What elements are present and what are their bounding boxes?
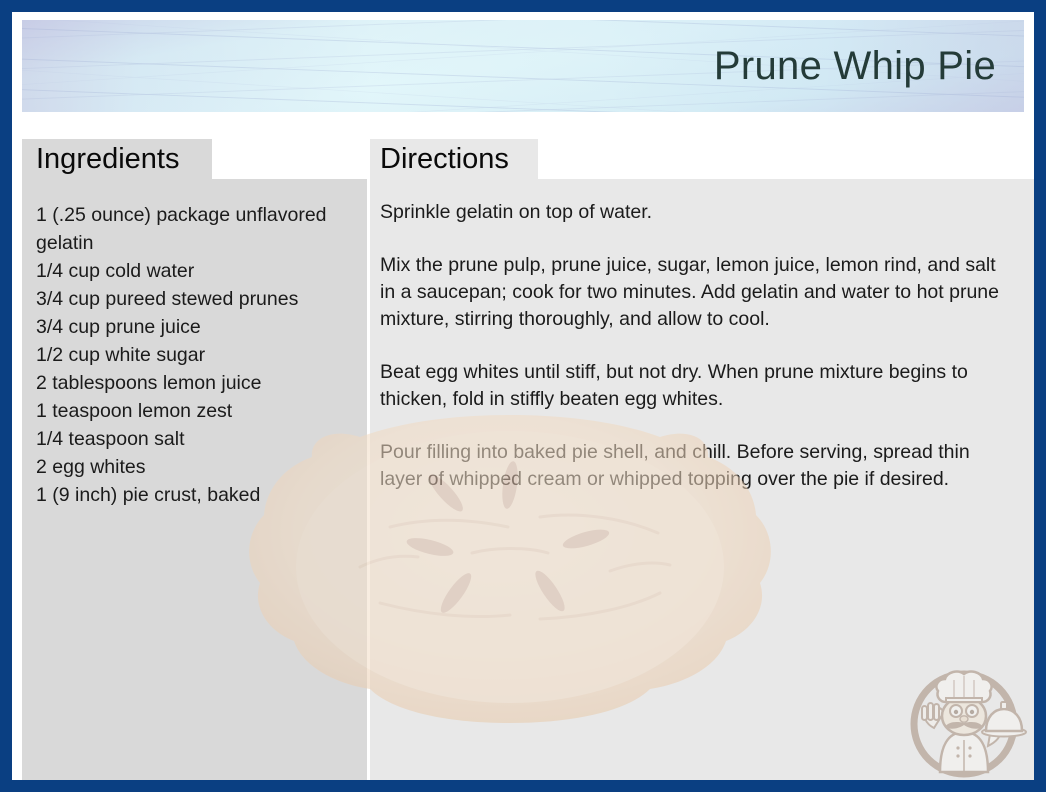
- ingredients-list: 1 (.25 ounce) package unflavored gelatin…: [36, 201, 359, 509]
- ingredients-header: Ingredients: [22, 139, 212, 179]
- direction-step: Mix the prune pulp, prune juice, sugar, …: [380, 252, 1016, 333]
- list-item: 1 (9 inch) pie crust, baked: [36, 481, 359, 509]
- ingredients-header-label: Ingredients: [36, 145, 180, 174]
- recipe-slide: Prune Whip Pie Ingredients Directions 1 …: [0, 0, 1046, 792]
- list-item: 1 teaspoon lemon zest: [36, 397, 359, 425]
- direction-step: Pour filling into baked pie shell, and c…: [380, 439, 1016, 493]
- directions-header: Directions: [370, 139, 538, 179]
- list-item: 1/4 teaspoon salt: [36, 425, 359, 453]
- recipe-page: Prune Whip Pie Ingredients Directions 1 …: [12, 12, 1034, 780]
- ingredients-panel: 1 (.25 ounce) package unflavored gelatin…: [22, 179, 367, 780]
- list-item: 2 tablespoons lemon juice: [36, 369, 359, 397]
- page-title: Prune Whip Pie: [714, 46, 996, 86]
- list-item: 3/4 cup prune juice: [36, 313, 359, 341]
- directions-header-label: Directions: [380, 145, 509, 174]
- direction-step: Beat egg whites until stiff, but not dry…: [380, 359, 1016, 413]
- direction-step: Sprinkle gelatin on top of water.: [380, 199, 1016, 226]
- list-item: 1/2 cup white sugar: [36, 341, 359, 369]
- chef-with-cloche-logo: [900, 654, 1028, 780]
- title-banner: Prune Whip Pie: [22, 20, 1024, 112]
- list-item: 3/4 cup pureed stewed prunes: [36, 285, 359, 313]
- list-item: 1 (.25 ounce) package unflavored gelatin: [36, 201, 359, 257]
- list-item: 2 egg whites: [36, 453, 359, 481]
- list-item: 1/4 cup cold water: [36, 257, 359, 285]
